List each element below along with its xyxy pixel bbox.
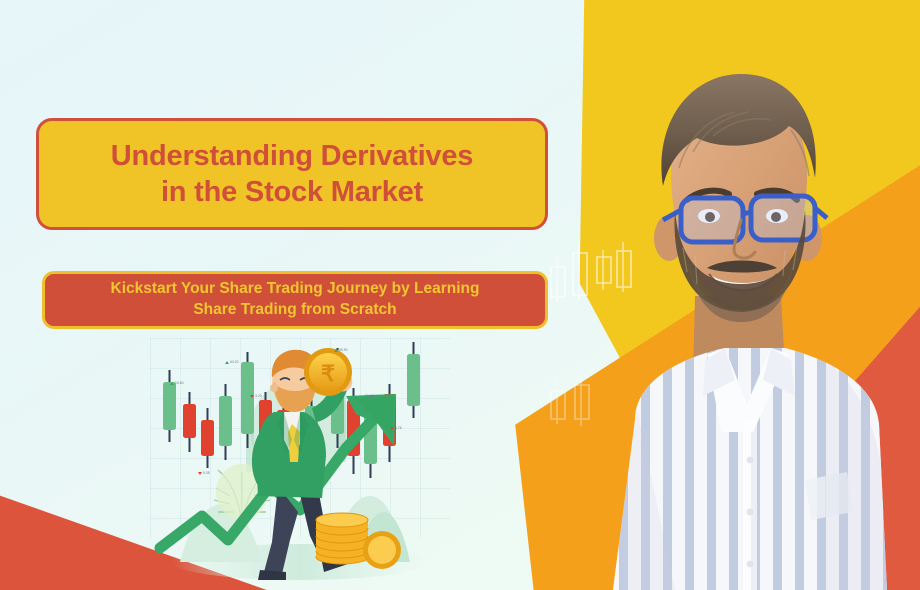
stock-trading-illustration: ₹ 10.60 [150, 336, 450, 590]
instructor-portrait [575, 60, 920, 590]
down-triangle-icon [250, 395, 254, 398]
price-label-6: 4.76 [390, 426, 402, 430]
down-triangle-icon [198, 472, 202, 475]
up-triangle-icon [360, 395, 364, 398]
subtitle-card: Kickstart Your Share Trading Journey by … [42, 271, 548, 329]
subtitle-line-2: Share Trading from Scratch [111, 300, 480, 321]
up-triangle-icon [170, 382, 174, 385]
price-label-3: 3.20 [250, 394, 262, 398]
title-line-2: in the Stock Market [111, 174, 473, 210]
price-label-0: 10.60 [170, 381, 184, 385]
price-label-2: 63.20 [225, 360, 239, 364]
up-triangle-icon [225, 361, 229, 364]
price-label-4: 55.90 [334, 348, 348, 352]
subtitle-line-1: Kickstart Your Share Trading Journey by … [111, 280, 480, 297]
down-triangle-icon [390, 427, 394, 430]
title-line-1: Understanding Derivatives [111, 140, 473, 172]
page-title: Understanding Derivatives in the Stock M… [111, 138, 473, 211]
title-card: Understanding Derivatives in the Stock M… [36, 118, 548, 230]
up-triangle-icon [334, 349, 338, 352]
page-subtitle: Kickstart Your Share Trading Journey by … [111, 279, 480, 321]
rupee-symbol: ₹ [321, 361, 335, 386]
promo-banner: ₹ 10.60 [0, 0, 920, 590]
price-label-1: 5.35 [198, 471, 210, 475]
price-label-5: 33.80 [360, 394, 374, 398]
